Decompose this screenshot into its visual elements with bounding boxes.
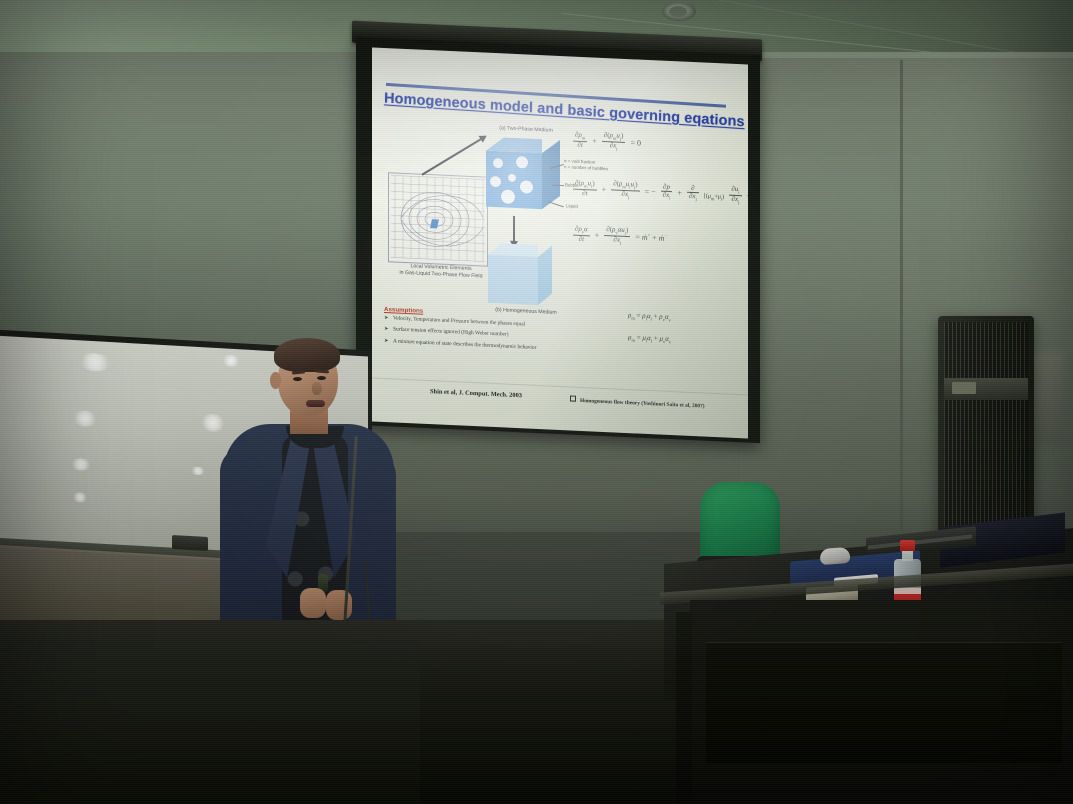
light-reflection (190, 467, 206, 476)
projector-screen: Homogeneous model and basic governing eq… (372, 47, 748, 438)
bubble-icon (520, 180, 533, 194)
bullet-arrow-icon: ➤ (384, 327, 389, 333)
checkbox-icon (570, 395, 576, 401)
presenter-mouth (306, 400, 325, 407)
floor-left (0, 640, 420, 804)
vapor-transport-equation: ∂ρvα∂t + ∂(ρvαuj)∂xj = ṁ+ + ṁ− (572, 225, 667, 248)
desk-modesty-panel (706, 642, 1062, 763)
presenter-eye (317, 376, 326, 380)
light-reflection (72, 410, 98, 427)
cube-side-face (538, 245, 552, 306)
slide-diagram: (a) Two-Phase Medium (382, 120, 572, 314)
assumption-text: A mixture equation of state describes th… (393, 338, 536, 351)
assumption-text: Surface tension effects ignored (High We… (393, 327, 509, 338)
mesh-grid-figure (388, 172, 488, 267)
air-conditioner-display (952, 382, 976, 394)
bubble-icon (508, 174, 516, 182)
presenter-ear (270, 372, 281, 389)
presenter-left-hand (300, 588, 326, 618)
bottle-label-stripe (894, 588, 921, 594)
bubble-icon (490, 176, 501, 187)
light-reflection (72, 492, 88, 503)
recessed-ceiling-light-icon (662, 2, 696, 21)
downward-arrow-icon (513, 216, 515, 242)
governing-equations: ∂ρm∂t + ∂(ρmuj)∂xj = 0 ∂(ρmui)∂t + ∂(ρmu… (568, 126, 744, 324)
footer-citation-right-text: Homogeneous flow theory (Yoshinori Saito… (580, 398, 705, 410)
light-reflection (70, 458, 92, 471)
presenter-eye (293, 377, 302, 381)
assumptions-list: ➤ Velocity, Temperature and Pressure bet… (384, 316, 634, 362)
bubble-icon (501, 189, 515, 204)
cube-front-face (488, 255, 538, 305)
cube-front-face (486, 151, 542, 210)
momentum-equation: ∂(ρmui)∂t + ∂(ρmuiuj)∂xj = − ∂p∂xi + ∂∂x… (572, 179, 748, 209)
computer-mouse[interactable] (819, 547, 850, 565)
mesh-to-cube-arrow-icon (421, 135, 486, 175)
presenter-hair (274, 338, 340, 372)
cube-side-face (542, 139, 560, 210)
continuity-equation: ∂ρm∂t + ∂(ρmuj)∂xj = 0 (572, 131, 641, 153)
footer-citation-right: Homogeneous flow theory (Yoshinori Saito… (570, 395, 705, 409)
footer-citation-left: Shin et al, J. Comput. Mech. 2003 (430, 388, 522, 399)
presentation-slide: Homogeneous model and basic governing eq… (372, 47, 748, 438)
assumption-text: Velocity, Temperature and Pressure betwe… (393, 315, 525, 327)
mixture-relations: ρm = ρlαl + ρvαv μm = μlαl + μvαv (628, 311, 748, 361)
homogeneous-medium-cube (488, 243, 552, 308)
light-reflection (78, 352, 112, 372)
presenter-nose (312, 382, 322, 395)
lecture-room-photo: Homogeneous model and basic governing eq… (0, 0, 1073, 804)
bubble-icon (493, 158, 503, 168)
desk-leg (676, 612, 692, 802)
bullet-arrow-icon: ➤ (384, 316, 389, 322)
footer-divider (372, 377, 748, 395)
two-phase-medium-label: (a) Two-Phase Medium (478, 124, 574, 134)
homogeneous-medium-label: (b) Homogeneous Medium (478, 306, 574, 316)
whiteboard-eraser[interactable] (172, 535, 208, 551)
bubble-icon (516, 156, 528, 169)
assumptions-heading: Assumptions (384, 306, 423, 315)
mixture-viscosity-equation: μm = μlαl + μvαv (628, 333, 748, 348)
